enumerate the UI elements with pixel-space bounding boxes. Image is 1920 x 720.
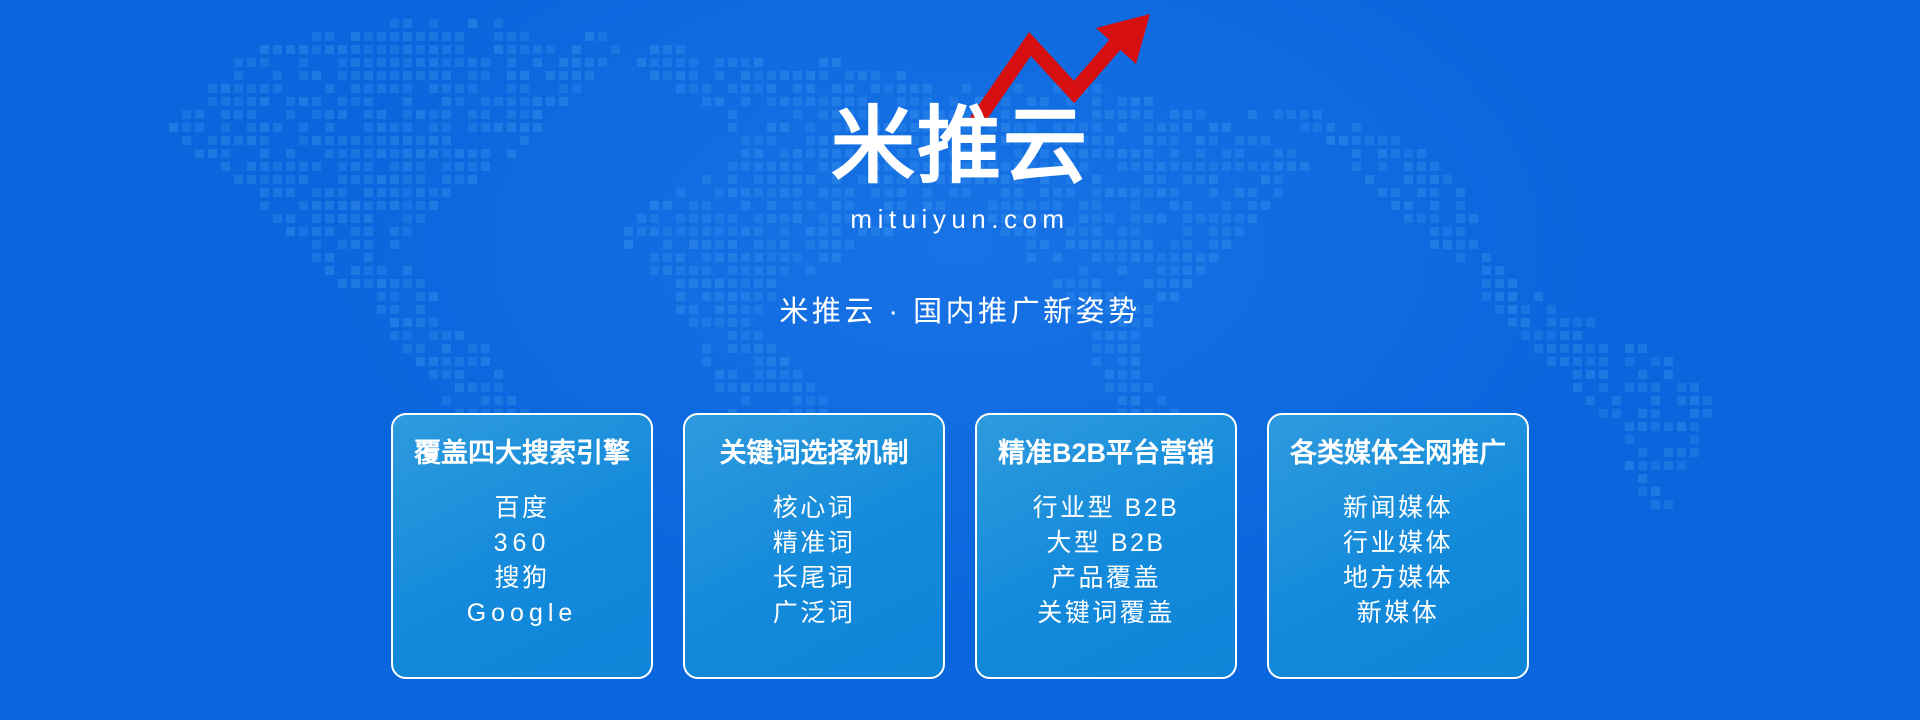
feature-card-list: 行业型 B2B大型 B2B产品覆盖关键词覆盖: [977, 491, 1235, 631]
feature-card-list: 核心词精准词长尾词广泛词: [685, 491, 943, 631]
feature-card-list-item: 产品覆盖: [1051, 561, 1161, 596]
feature-card-list-item: Google: [467, 596, 578, 631]
logo-block: 米推云 mituiyun.com: [0, 8, 1920, 218]
logo-domain: mituiyun.com: [700, 204, 1220, 235]
logo-mark: 米推云 mituiyun.com: [700, 8, 1220, 218]
feature-card-list-item: 核心词: [773, 491, 856, 526]
feature-card-title: 关键词选择机制: [720, 439, 909, 469]
tagline: 米推云 · 国内推广新姿势: [0, 288, 1920, 330]
feature-card-list-item: 长尾词: [773, 561, 856, 596]
feature-card-list-item: 关键词覆盖: [1037, 596, 1175, 631]
feature-card-title: 覆盖四大搜索引擎: [414, 439, 630, 469]
feature-card-list-item: 百度: [494, 491, 549, 526]
feature-card[interactable]: 精准B2B平台营销行业型 B2B大型 B2B产品覆盖关键词覆盖: [975, 413, 1237, 679]
feature-card[interactable]: 各类媒体全网推广新闻媒体行业媒体地方媒体新媒体: [1267, 413, 1529, 679]
feature-card-title: 各类媒体全网推广: [1290, 439, 1506, 469]
feature-card-row: 覆盖四大搜索引擎百度360搜狗Google关键词选择机制核心词精准词长尾词广泛词…: [391, 413, 1529, 679]
feature-card-list-item: 新媒体: [1357, 596, 1440, 631]
feature-card[interactable]: 覆盖四大搜索引擎百度360搜狗Google: [391, 413, 653, 679]
feature-card-list: 新闻媒体行业媒体地方媒体新媒体: [1269, 491, 1527, 631]
feature-card-list-item: 精准词: [773, 526, 856, 561]
feature-card[interactable]: 关键词选择机制核心词精准词长尾词广泛词: [683, 413, 945, 679]
feature-card-list-item: 搜狗: [494, 561, 549, 596]
feature-card-list-item: 大型 B2B: [1046, 526, 1165, 561]
feature-card-list-item: 行业型 B2B: [1033, 491, 1180, 526]
feature-card-list-item: 广泛词: [773, 596, 856, 631]
feature-card-list-item: 新闻媒体: [1343, 491, 1453, 526]
feature-card-title: 精准B2B平台营销: [998, 439, 1214, 469]
logo-wordmark: 米推云: [700, 104, 1220, 188]
feature-card-list-item: 行业媒体: [1343, 526, 1453, 561]
feature-card-list: 百度360搜狗Google: [393, 491, 651, 631]
feature-card-list-item: 地方媒体: [1343, 561, 1453, 596]
promo-banner: 米推云 mituiyun.com 米推云 · 国内推广新姿势 覆盖四大搜索引擎百…: [0, 0, 1920, 720]
feature-card-list-item: 360: [494, 526, 551, 561]
